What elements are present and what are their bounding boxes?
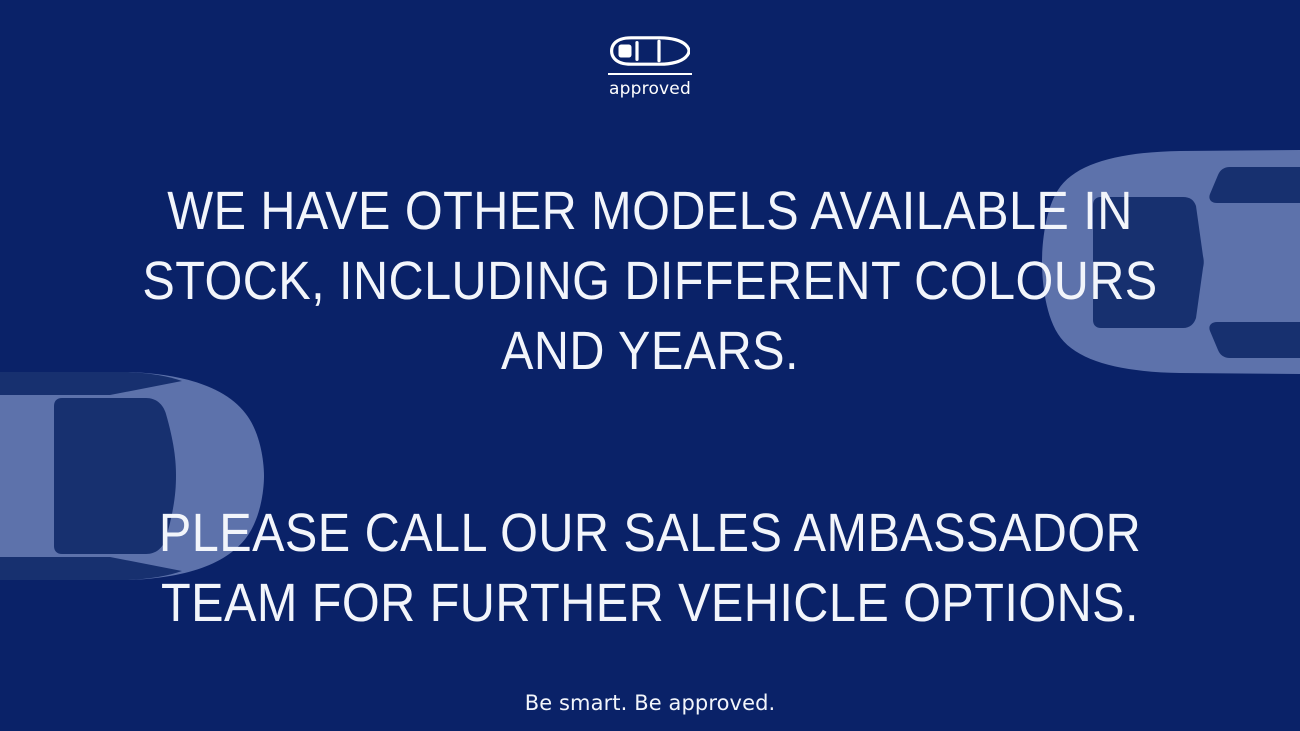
brand-wordmark: approved: [609, 81, 691, 98]
message-paragraph-one: WE HAVE OTHER MODELS AVAILABLE IN STOCK,…: [142, 176, 1159, 386]
brand-tagline: Be smart. Be approved.: [525, 690, 776, 716]
slide-stage: approved WE HAVE OTHER MODELS AVAILABLE …: [0, 0, 1300, 731]
brand-logo: approved: [598, 36, 702, 98]
brand-divider: [608, 73, 692, 75]
message-paragraph-two: PLEASE CALL OUR SALES AMBASSADOR TEAM FO…: [142, 498, 1159, 638]
message-block: WE HAVE OTHER MODELS AVAILABLE IN STOCK,…: [85, 176, 1215, 638]
car-top-view-icon: [610, 36, 690, 66]
